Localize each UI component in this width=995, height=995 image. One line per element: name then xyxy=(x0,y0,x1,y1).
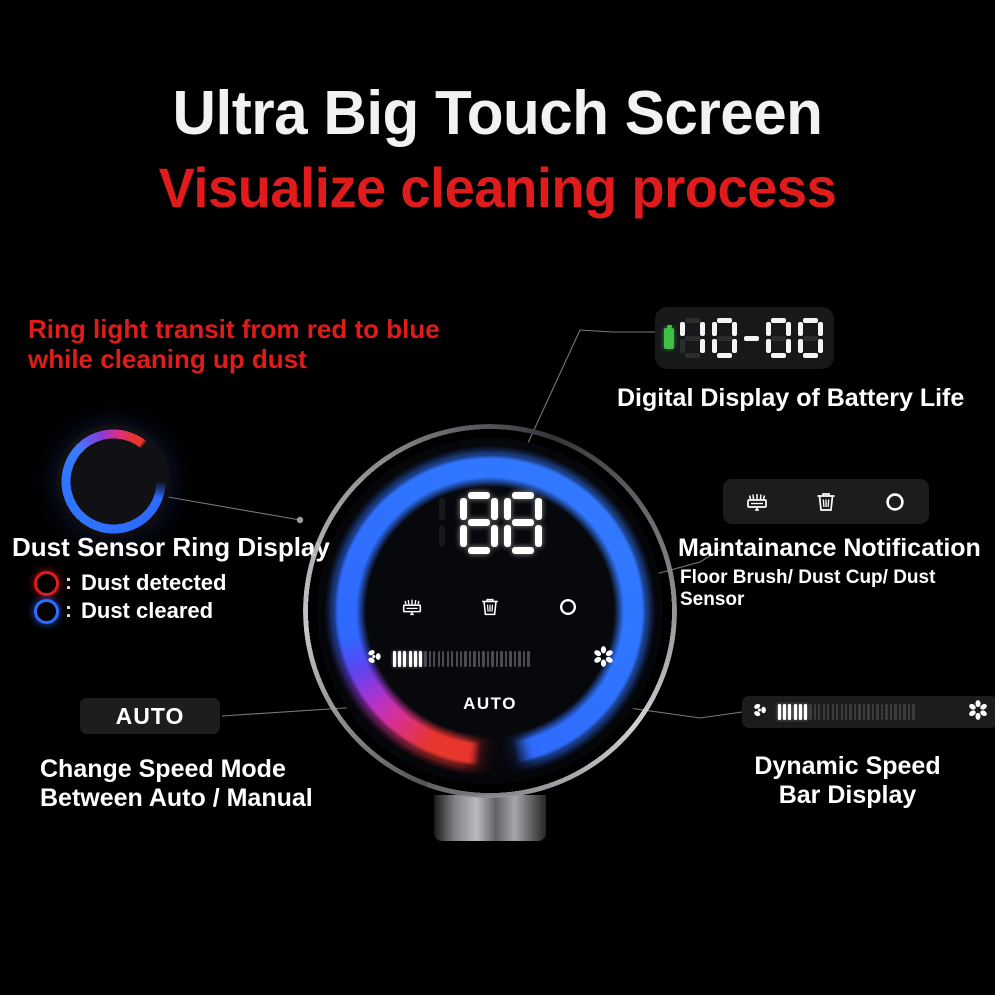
maintenance-title: Maintainance Notification xyxy=(678,534,981,563)
battery-title: Digital Display of Battery Life xyxy=(617,384,964,413)
speed-bar-line1: Dynamic Speed xyxy=(700,752,995,781)
legend-colon: : xyxy=(65,599,72,623)
speed-bar-line2: Bar Display xyxy=(700,781,995,810)
dial-seg-dim xyxy=(439,492,450,554)
legend-colon: : xyxy=(65,571,72,595)
ring-light-line2: while cleaning up dust xyxy=(28,345,440,375)
seg-digit-0b xyxy=(766,318,791,358)
page-title: Ultra Big Touch Screen xyxy=(15,78,980,149)
maintenance-subtitle: Floor Brush/ Dust Cup/ Dust Sensor xyxy=(680,567,995,610)
speed-bars xyxy=(778,704,960,720)
dial-seg-digit-1 xyxy=(460,492,498,554)
seg-digit-0a xyxy=(712,318,737,358)
maintenance-notification-panel xyxy=(723,479,929,524)
red-ring-icon xyxy=(34,571,59,596)
leader-battery xyxy=(580,330,655,332)
seg-dash xyxy=(744,336,759,341)
floor-brush-icon xyxy=(742,487,772,517)
speed-mode-line2: Between Auto / Manual xyxy=(40,784,313,813)
vacuum-stem xyxy=(434,795,546,841)
blue-ring-icon xyxy=(34,599,59,624)
dust-cup-icon[interactable] xyxy=(475,592,505,622)
legend-dust-detected: : Dust detected xyxy=(34,570,226,596)
fan-high-icon xyxy=(592,645,615,673)
fan-high-icon xyxy=(967,699,989,726)
seg-digit-0c xyxy=(798,318,823,358)
annotation-ring-light: Ring light transit from red to blue whil… xyxy=(28,315,440,374)
legend-label: Dust cleared xyxy=(81,598,213,624)
auto-mode-badge: AUTO xyxy=(80,698,220,734)
dust-ring-arc xyxy=(56,424,171,539)
dial-seg-digit-2 xyxy=(504,492,542,554)
dial-seven-segment-display xyxy=(303,492,677,554)
battery-icon xyxy=(664,328,674,349)
dust-sensor-icon[interactable] xyxy=(553,592,583,622)
page-subtitle: Visualize cleaning process xyxy=(15,155,980,220)
fan-low-icon xyxy=(751,700,771,725)
dust-sensor-ring-icon xyxy=(56,424,171,539)
main-touch-screen-dial: AUTO xyxy=(303,424,677,798)
floor-brush-icon[interactable] xyxy=(397,592,427,622)
fan-low-icon xyxy=(365,646,386,672)
ring-light-line1: Ring light transit from red to blue xyxy=(28,315,440,345)
speed-mode-line1: Change Speed Mode xyxy=(40,755,313,784)
infographic-canvas: Ultra Big Touch Screen Visualize cleanin… xyxy=(0,0,995,995)
speed-mode-annotation: Change Speed Mode Between Auto / Manual xyxy=(40,755,313,812)
auto-badge-label: AUTO xyxy=(116,703,185,730)
legend-label: Dust detected xyxy=(81,570,226,596)
legend-dust-cleared: : Dust cleared xyxy=(34,598,213,624)
speed-bar-annotation: Dynamic Speed Bar Display xyxy=(700,752,995,809)
dynamic-speed-bar-panel xyxy=(742,696,995,728)
dust-cup-icon xyxy=(811,487,841,517)
dial-mode-label[interactable]: AUTO xyxy=(303,694,677,714)
dial-speed-bar[interactable] xyxy=(365,646,615,672)
battery-seven-segment-value xyxy=(680,318,823,358)
dust-sensor-icon xyxy=(880,487,910,517)
dial-maintenance-icons[interactable] xyxy=(303,592,677,622)
seg-digit-1 xyxy=(680,318,705,358)
dial-speed-bars[interactable] xyxy=(393,651,585,667)
dust-sensor-title: Dust Sensor Ring Display xyxy=(12,533,330,563)
battery-display-panel xyxy=(655,307,834,369)
